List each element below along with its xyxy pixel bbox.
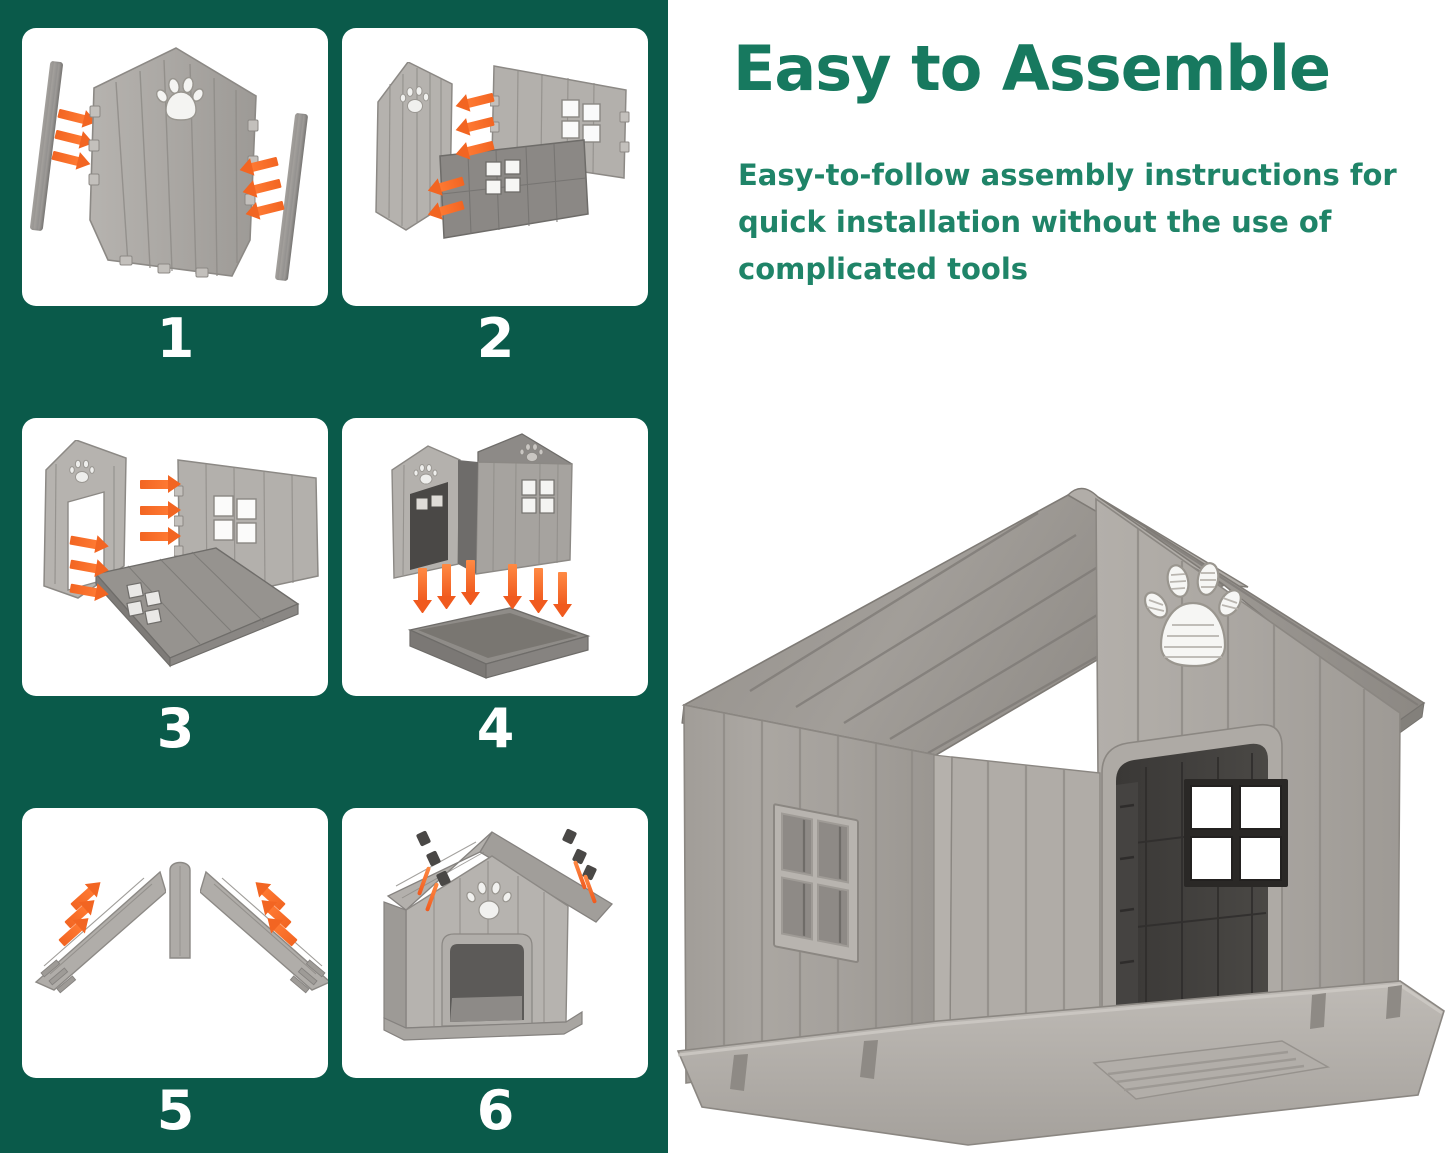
assembly-arrow-icon bbox=[442, 564, 451, 598]
base-box-icon bbox=[88, 544, 304, 672]
step-card-4: 4 bbox=[342, 418, 648, 696]
assembled-walls-icon bbox=[382, 432, 598, 592]
side-window bbox=[774, 804, 858, 962]
side-rail-left-icon bbox=[30, 61, 64, 231]
page-subtitle: Easy-to-follow assembly instructions for… bbox=[738, 152, 1418, 293]
step-card-5: 5 bbox=[22, 808, 328, 1078]
corner-post bbox=[934, 755, 952, 1051]
assembly-arrow-icon bbox=[508, 564, 517, 598]
step-number-2: 2 bbox=[342, 312, 648, 366]
step-illustration-4 bbox=[342, 418, 648, 696]
assembly-arrow-icon bbox=[558, 572, 567, 606]
ridge-cap-icon bbox=[166, 856, 194, 966]
step-illustration-6 bbox=[342, 808, 648, 1078]
assembly-arrow-icon bbox=[418, 568, 427, 602]
step-illustration-1 bbox=[22, 28, 328, 306]
step-number-4: 4 bbox=[342, 702, 648, 756]
gable-panel-icon bbox=[84, 44, 264, 284]
assembly-arrow-icon bbox=[51, 151, 80, 167]
step-number-3: 3 bbox=[22, 702, 328, 756]
step-card-2: 2 bbox=[342, 28, 648, 306]
finished-doghouse-icon bbox=[372, 826, 622, 1056]
step-illustration-3 bbox=[22, 418, 328, 696]
rear-window bbox=[1184, 779, 1288, 887]
assembly-arrow-icon bbox=[57, 109, 86, 125]
step-illustration-5 bbox=[22, 808, 328, 1078]
assembly-arrow-icon bbox=[54, 130, 83, 146]
step-card-6: 6 bbox=[342, 808, 648, 1078]
step-number-5: 5 bbox=[22, 1084, 328, 1138]
assembly-arrow-icon bbox=[466, 560, 475, 594]
step-illustration-2 bbox=[342, 28, 648, 306]
step-card-3: 3 bbox=[22, 418, 328, 696]
side-rail-right-icon bbox=[275, 113, 308, 281]
page-title: Easy to Assemble bbox=[733, 36, 1393, 101]
step-card-1: 1 bbox=[22, 28, 328, 306]
assembly-arrow-icon bbox=[140, 506, 170, 515]
plastic-dog-house-illustration bbox=[676, 455, 1445, 1153]
assembly-arrow-icon bbox=[534, 568, 543, 602]
assembly-steps-panel: 1 bbox=[0, 0, 668, 1153]
step-number-6: 6 bbox=[342, 1084, 648, 1138]
assembly-arrow-icon bbox=[140, 480, 170, 489]
assembly-arrow-icon bbox=[140, 532, 170, 541]
step-number-1: 1 bbox=[22, 312, 328, 366]
hero-product-image bbox=[676, 455, 1445, 1153]
